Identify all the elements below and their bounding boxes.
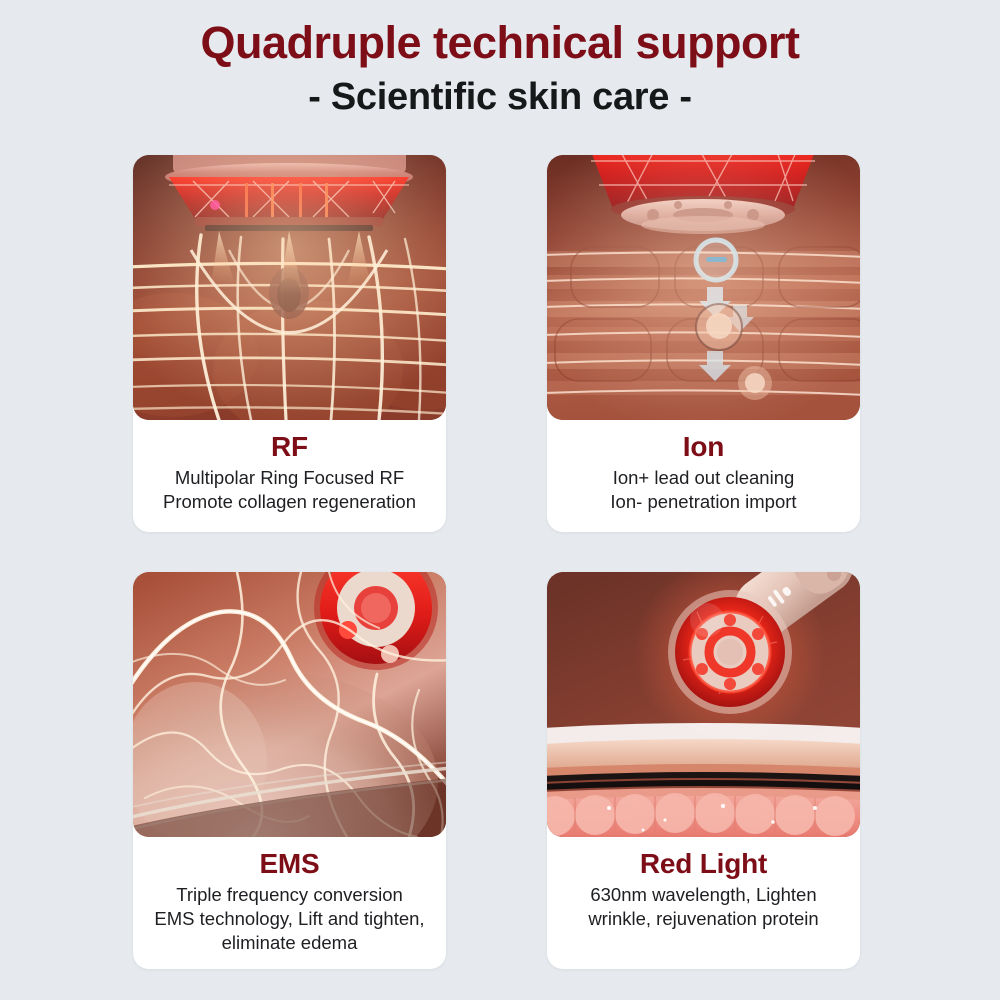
card-body: Ion Ion+ lead out cleaning Ion- penetrat… <box>547 420 860 514</box>
feature-card-grid: RF Multipolar Ring Focused RF Promote co… <box>133 155 860 969</box>
page-subtitle: - Scientific skin care - <box>0 76 1000 120</box>
feature-card-ems[interactable]: EMS Triple frequency conversion EMS tech… <box>133 572 446 969</box>
card-description: Ion+ lead out cleaning Ion- penetration … <box>555 466 852 514</box>
feature-row-1: RF Multipolar Ring Focused RF Promote co… <box>133 155 860 532</box>
card-title: Red Light <box>555 848 852 880</box>
ems-electrical-current-arcs-over-skin-icon <box>133 572 446 837</box>
page-title: Quadruple technical support <box>0 18 1000 68</box>
red-light-handheld-device-over-skin-layers-icon <box>547 572 860 837</box>
card-body: RF Multipolar Ring Focused RF Promote co… <box>133 420 446 514</box>
card-description: 630nm wavelength, Lighten wrinkle, rejuv… <box>555 883 852 931</box>
ion-device-head-with-ion-particles-entering-skin-icon <box>547 155 860 420</box>
card-title: RF <box>141 431 438 463</box>
card-description: Triple frequency conversion EMS technolo… <box>141 883 438 955</box>
feature-card-ion[interactable]: Ion Ion+ lead out cleaning Ion- penetrat… <box>547 155 860 532</box>
page-header: Quadruple technical support - Scientific… <box>0 0 1000 120</box>
card-body: EMS Triple frequency conversion EMS tech… <box>133 837 446 955</box>
feature-card-red-light[interactable]: Red Light 630nm wavelength, Lighten wrin… <box>547 572 860 969</box>
feature-row-2: EMS Triple frequency conversion EMS tech… <box>133 572 860 969</box>
rf-device-head-with-energy-grid-over-skin-icon <box>133 155 446 420</box>
card-title: EMS <box>141 848 438 880</box>
card-title: Ion <box>555 431 852 463</box>
card-description: Multipolar Ring Focused RF Promote colla… <box>141 466 438 514</box>
feature-card-rf[interactable]: RF Multipolar Ring Focused RF Promote co… <box>133 155 446 532</box>
card-body: Red Light 630nm wavelength, Lighten wrin… <box>547 837 860 931</box>
